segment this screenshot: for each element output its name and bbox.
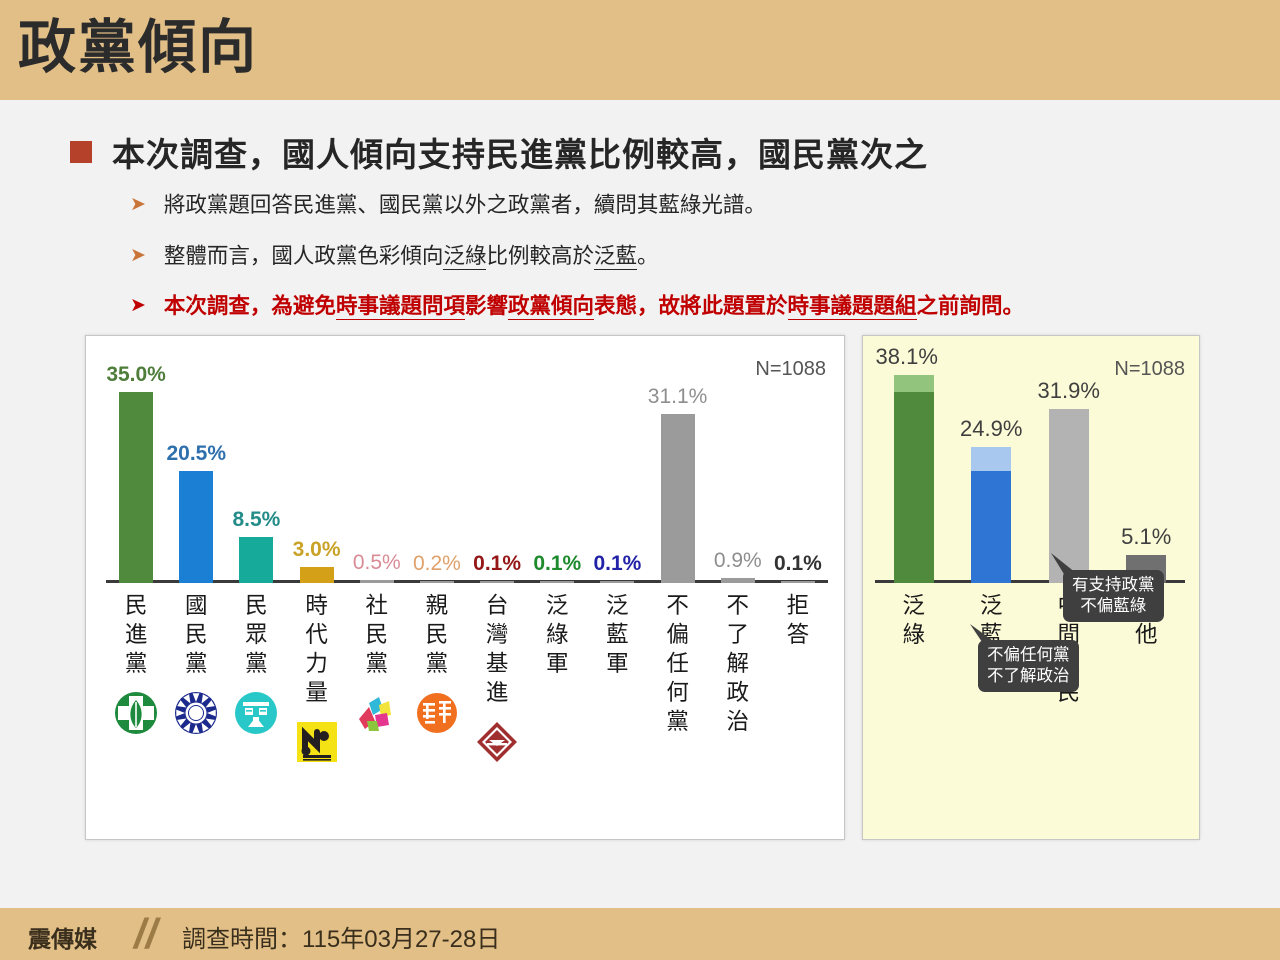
x-label-char: 泛 <box>886 591 942 620</box>
stacked-segment-base-1 <box>971 471 1011 583</box>
stacked-bar-1 <box>971 447 1011 583</box>
bullet-sub-1-text: 將政黨題回答民進黨、國民黨以外之政黨者，續問其藍綠光譜。 <box>164 192 766 218</box>
chart-panel-party-support: N=1088 35.0%20.5%8.5%3.0%0.5%0.2%0.1%0.1… <box>85 335 845 840</box>
party-logo-pfp-icon <box>415 691 459 740</box>
x-label-char: 軍 <box>589 649 645 678</box>
plot-area-right: 38.1%24.9%31.9%5.1% <box>875 358 1185 583</box>
x-label-char: 民 <box>349 620 405 649</box>
x-label-char: 泛 <box>529 591 585 620</box>
callout-no-party-no-politics: 不偏任何黨 不了解政治 <box>978 640 1079 692</box>
party-logo-npp-icon <box>295 720 339 769</box>
x-label-11: 拒答 <box>770 591 826 649</box>
x-label-5: 親民黨 <box>409 591 465 678</box>
bullet-sub-2-part-a: 整體而言，國人政黨色彩傾向 <box>164 244 444 268</box>
x-label-char: 拒 <box>770 591 826 620</box>
bar-3 <box>300 567 334 583</box>
party-logo-tpp-icon <box>234 691 278 740</box>
x-label-char: 親 <box>409 591 465 620</box>
x-label-char: 偏 <box>650 620 706 649</box>
slide-footer-bar: 震傳媒 // 調查時間：115年03月27-28日 <box>0 908 1280 960</box>
bar-0 <box>119 392 153 583</box>
x-axis-line <box>106 580 828 583</box>
bullet-sub-2: ➤ 整體而言，國人政黨色彩傾向泛綠比例較高於泛藍。 <box>130 243 659 269</box>
bar-9 <box>661 414 695 583</box>
x-label-0: 民進黨 <box>108 591 164 678</box>
x-label-char: 黨 <box>108 649 164 678</box>
x-label-char: 政 <box>710 678 766 707</box>
x-label-char: 不 <box>650 591 706 620</box>
bullet-sub-3-part-a: 本次調查，為避免 <box>164 294 336 318</box>
party-logo-sdp-icon <box>355 691 399 740</box>
x-label-char: 社 <box>349 591 405 620</box>
x-label-2: 民眾黨 <box>228 591 284 678</box>
page-title: 政黨傾向 <box>18 8 258 88</box>
callout-1-line-1: 有支持政黨 <box>1072 575 1155 596</box>
x-label-char: 軍 <box>529 649 585 678</box>
bullet-sub-3-underline-2: 政黨傾向 <box>508 294 594 320</box>
x-label-char: 國 <box>168 591 224 620</box>
bar-4 <box>360 580 394 583</box>
footer-divider-icon: // <box>134 910 157 958</box>
bullet-sub-2-text: 整體而言，國人政黨色彩傾向泛綠比例較高於泛藍。 <box>164 243 659 269</box>
bullet-sub-2-underline-blue: 泛藍 <box>594 244 637 270</box>
bar-value-label-1: 24.9% <box>946 416 1036 442</box>
bullet-sub-3-underline-1: 時事議題問項 <box>336 294 465 320</box>
x-label-char: 灣 <box>469 620 525 649</box>
x-label-char: 黨 <box>349 649 405 678</box>
bullet-square-marker <box>70 141 92 163</box>
bar-value-label-8: 0.1% <box>575 552 659 576</box>
bullet-sub-3: ➤ 本次調查，為避免時事議題問項影響政黨傾向表態，故將此題置於時事議題題組之前詢… <box>130 293 1024 319</box>
bullet-sub-2-part-b: 比例較高於 <box>486 244 594 268</box>
bullet-main-text: 本次調查，國人傾向支持民進黨比例較高，國民黨次之 <box>112 128 928 176</box>
callout-2-tail-icon <box>968 622 1002 648</box>
x-label-char: 進 <box>108 620 164 649</box>
bar-1 <box>179 471 213 583</box>
x-label-char: 答 <box>770 620 826 649</box>
x-label-10: 不了解政治 <box>710 591 766 736</box>
x-label-char: 不 <box>710 591 766 620</box>
x-label-char: 代 <box>289 620 345 649</box>
x-label-char: 台 <box>469 591 525 620</box>
x-label-char: 基 <box>469 649 525 678</box>
x-label-char: 了 <box>710 620 766 649</box>
bar-7 <box>540 581 574 584</box>
stacked-segment-top-0 <box>894 375 934 392</box>
x-label-0: 泛綠 <box>886 591 942 649</box>
x-label-char: 黨 <box>168 649 224 678</box>
slide-body: 本次調查，國人傾向支持民進黨比例較高，國民黨次之 ➤ 將政黨題回答民進黨、國民黨… <box>0 100 1280 908</box>
x-label-char: 民 <box>228 591 284 620</box>
x-label-char: 治 <box>710 707 766 736</box>
x-label-char: 泛 <box>963 591 1019 620</box>
bar-6 <box>480 581 514 584</box>
bar-2 <box>239 537 273 583</box>
bullet-sub-3-part-c: 表態，故將此題置於 <box>594 294 788 318</box>
bar-value-label-0: 35.0% <box>94 363 178 387</box>
chevron-right-icon: ➤ <box>130 243 146 269</box>
x-label-char: 黨 <box>228 649 284 678</box>
x-label-1: 國民黨 <box>168 591 224 678</box>
x-label-3: 時代力量 <box>289 591 345 707</box>
slide-header-bar: 政黨傾向 <box>0 0 1280 100</box>
x-label-char: 民 <box>168 620 224 649</box>
x-label-char: 何 <box>650 678 706 707</box>
party-logo-dpp-icon <box>114 691 158 740</box>
x-label-char: 民 <box>108 591 164 620</box>
party-logo-kmt-icon <box>174 691 218 740</box>
footer-brand: 震傳媒 <box>28 920 97 954</box>
stacked-segment-top-1 <box>971 447 1011 471</box>
callout-2-line-1: 不偏任何黨 <box>987 645 1070 666</box>
x-label-char: 黨 <box>650 707 706 736</box>
bullet-sub-2-part-c: 。 <box>637 244 659 268</box>
x-label-9: 不偏任何黨 <box>650 591 706 736</box>
x-label-char: 眾 <box>228 620 284 649</box>
bullet-sub-2-underline-green: 泛綠 <box>443 244 486 270</box>
x-axis-labels-left: 民進黨國民黨民眾黨時代力量社民黨親民黨台灣基進泛綠軍泛藍軍不偏任何黨不了解政治拒… <box>106 591 828 821</box>
x-label-char: 泛 <box>589 591 645 620</box>
bar-value-label-2: 8.5% <box>214 508 298 532</box>
x-label-char: 他 <box>1118 620 1174 649</box>
chevron-right-icon: ➤ <box>130 192 146 218</box>
x-label-4: 社民黨 <box>349 591 405 678</box>
bar-value-label-11: 0.1% <box>756 552 840 576</box>
stacked-segment-base-0 <box>894 392 934 583</box>
callout-1-line-2: 不偏藍綠 <box>1072 596 1155 617</box>
x-label-char: 民 <box>409 620 465 649</box>
x-label-char: 綠 <box>886 620 942 649</box>
bar-value-label-1: 20.5% <box>154 442 238 466</box>
bullet-sub-3-underline-3: 時事議題題組 <box>788 294 917 320</box>
bar-value-label-3: 5.1% <box>1101 524 1191 550</box>
x-label-char: 綠 <box>529 620 585 649</box>
x-label-7: 泛綠軍 <box>529 591 585 678</box>
x-label-char: 時 <box>289 591 345 620</box>
bar-10 <box>721 578 755 583</box>
bar-11 <box>781 581 815 584</box>
stacked-bar-0 <box>894 375 934 583</box>
bar-8 <box>600 581 634 584</box>
bullet-sub-3-part-d: 之前詢問。 <box>917 294 1025 318</box>
callout-2-line-2: 不了解政治 <box>987 666 1070 687</box>
plot-area-left: 35.0%20.5%8.5%3.0%0.5%0.2%0.1%0.1%0.1%31… <box>106 358 828 583</box>
callout-1-tail-icon <box>1047 553 1081 579</box>
footer-survey-date: 調查時間：115年03月27-28日 <box>182 919 500 954</box>
x-label-char: 力 <box>289 649 345 678</box>
bar-value-label-2: 31.9% <box>1024 378 1114 404</box>
bullet-sub-3-part-b: 影響 <box>465 294 508 318</box>
bullet-sub-3-text: 本次調查，為避免時事議題問項影響政黨傾向表態，故將此題置於時事議題題組之前詢問。 <box>164 293 1024 319</box>
bullet-sub-1: ➤ 將政黨題回答民進黨、國民黨以外之政黨者，續問其藍綠光譜。 <box>130 192 766 218</box>
x-label-char: 黨 <box>409 649 465 678</box>
bullet-main: 本次調查，國人傾向支持民進黨比例較高，國民黨次之 <box>70 128 928 176</box>
chevron-right-icon: ➤ <box>130 293 146 319</box>
x-label-char: 藍 <box>589 620 645 649</box>
callout-has-party-no-lean: 有支持政黨 不偏藍綠 <box>1063 570 1164 622</box>
x-label-char: 量 <box>289 678 345 707</box>
x-label-8: 泛藍軍 <box>589 591 645 678</box>
bar-value-label-9: 31.1% <box>636 385 720 409</box>
party-logo-tsp-icon <box>475 720 519 769</box>
bar-value-label-0: 38.1% <box>862 344 952 370</box>
bar-5 <box>420 581 454 584</box>
x-label-char: 進 <box>469 678 525 707</box>
x-label-char: 解 <box>710 649 766 678</box>
x-label-char: 任 <box>650 649 706 678</box>
x-label-6: 台灣基進 <box>469 591 525 707</box>
